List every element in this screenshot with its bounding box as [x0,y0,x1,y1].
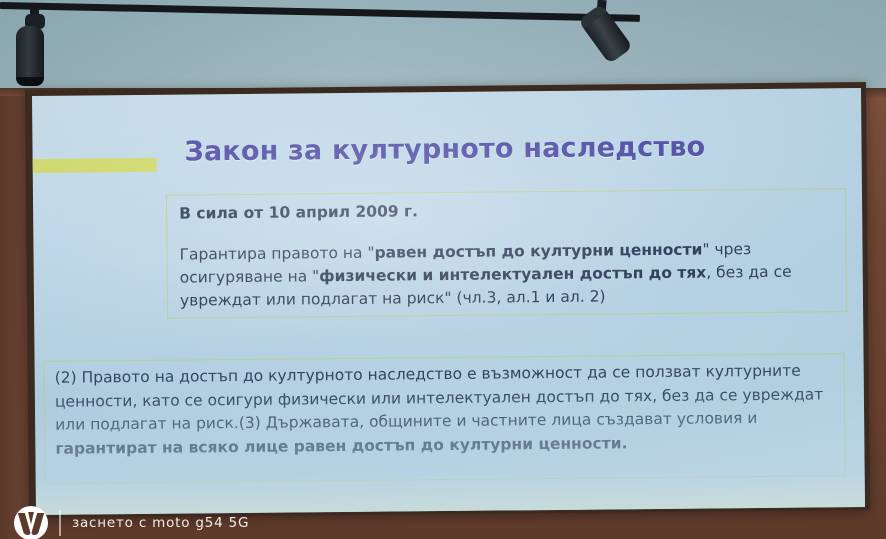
watermark-text: заснето с moto g54 5G [72,515,249,531]
motorola-logo-icon [14,506,48,539]
title-accent-bar [33,158,157,173]
law-article-box: (2) Правото на достъп до културното насл… [44,353,846,484]
law-summary-box: В сила от 10 април 2009 г. Гарантира пра… [166,188,847,319]
law-article-paragraph: (2) Правото на достъп до културното насл… [55,359,842,461]
effective-date-heading: В сила от 10 април 2009 г. [179,202,418,222]
spotlight-left-body [16,26,44,84]
projected-slide: Закон за културното наследство В сила от… [32,88,865,515]
slide-title: Закон за културното наследство [184,130,824,167]
motorola-logo-notch [28,512,34,525]
watermark-divider [59,510,61,536]
law-guarantee-paragraph: Гарантира правото на "равен достъп до ку… [179,237,828,312]
camera-watermark: заснето с moto g54 5G [14,506,314,539]
spotlight-left-lens [16,77,44,86]
photo-scene: Закон за културното наследство В сила от… [0,0,886,539]
